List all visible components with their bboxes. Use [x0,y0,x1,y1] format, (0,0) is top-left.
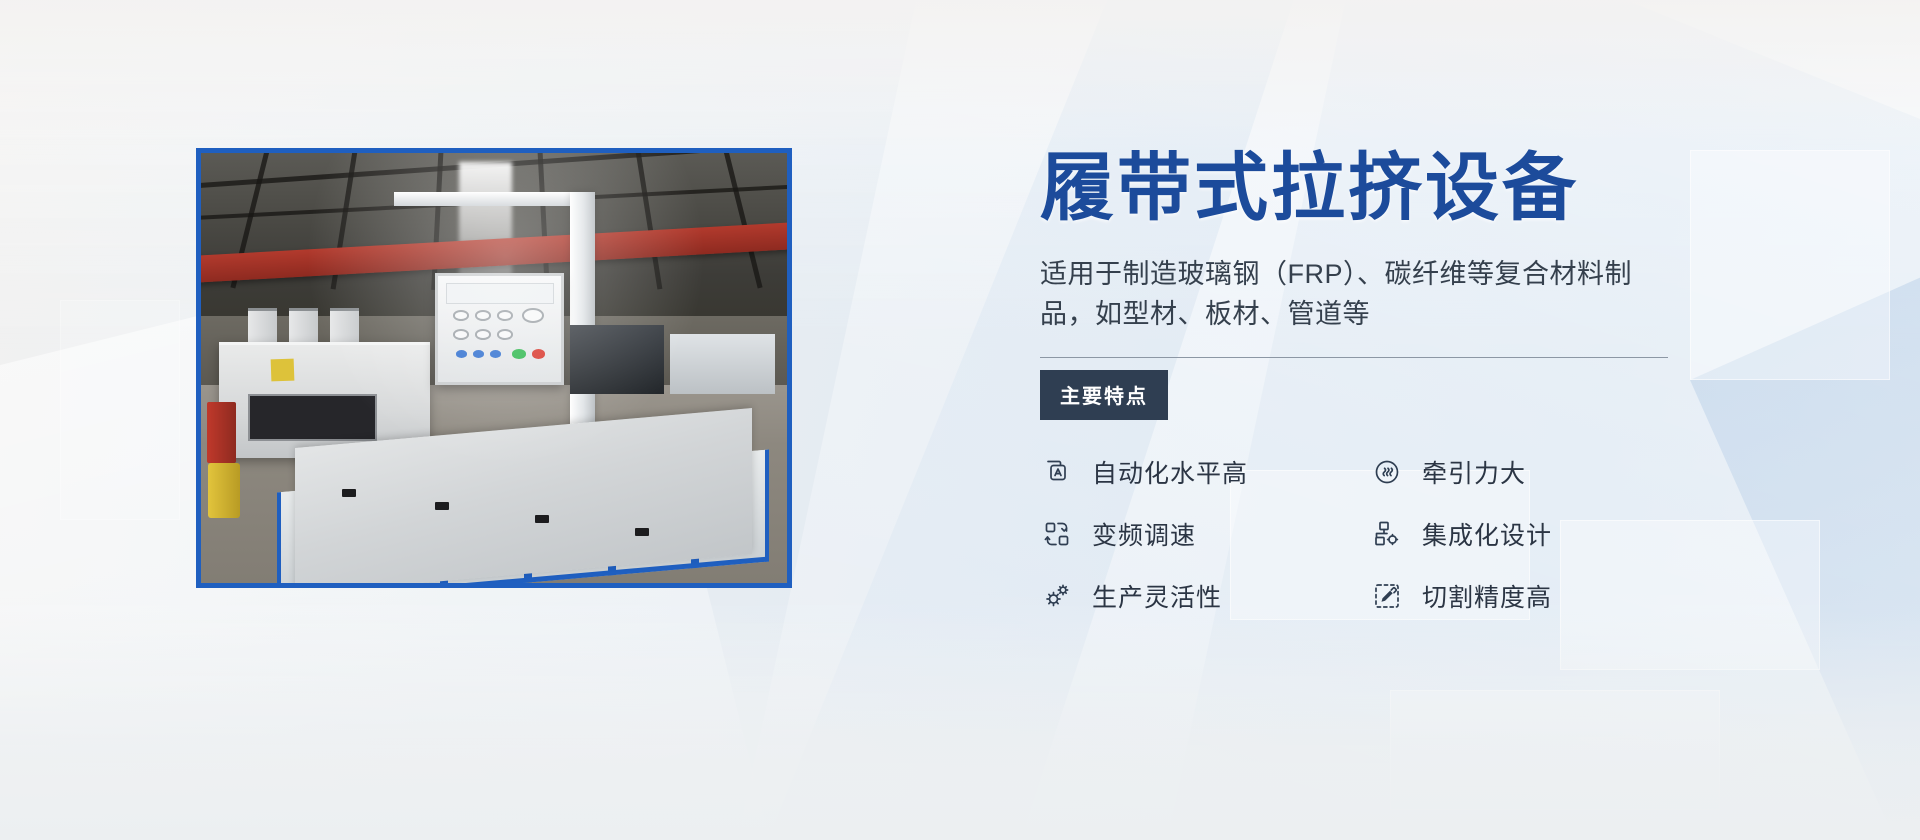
status-badge: 主要特点 [1040,370,1168,420]
feature-label: 牵引力大 [1422,454,1526,490]
feature-item-automation[interactable]: 自动化水平高 [1040,454,1370,490]
product-banner: 履带式拉挤设备 适用于制造玻璃钢（FRP）、碳纤维等复合材料制品，如型材、板材、… [0,0,1920,840]
page-title: 履带式拉挤设备 [1040,150,1700,225]
feature-label: 切割精度高 [1422,578,1552,614]
decor-top-veil [0,0,1920,150]
product-photo[interactable] [196,148,792,588]
integrated-design-icon [1370,517,1404,551]
frequency-speed-icon [1040,517,1074,551]
feature-item-integrated[interactable]: 集成化设计 [1370,516,1700,552]
banner-subtitle: 适用于制造玻璃钢（FRP）、碳纤维等复合材料制品，如型材、板材、管道等 [1040,255,1640,335]
feature-list: 自动化水平高 牵引力大 [1040,454,1700,614]
feature-item-frequency[interactable]: 变频调速 [1040,516,1370,552]
decor-ghost-block-5 [60,300,180,520]
feature-label: 生产灵活性 [1092,578,1222,614]
feature-label: 集成化设计 [1422,516,1552,552]
photo-light-glare [201,153,787,583]
feature-label: 变频调速 [1092,516,1196,552]
automation-square-a-icon [1040,455,1074,489]
feature-item-precision[interactable]: 切割精度高 [1370,578,1700,614]
traction-wave-circle-icon [1370,455,1404,489]
decor-ghost-block-4 [1690,150,1890,380]
product-photo-inner [201,153,787,583]
feature-label: 自动化水平高 [1092,454,1248,490]
gears-flexibility-icon [1040,579,1074,613]
section-divider [1040,357,1668,358]
feature-item-traction[interactable]: 牵引力大 [1370,454,1700,490]
banner-content: 履带式拉挤设备 适用于制造玻璃钢（FRP）、碳纤维等复合材料制品，如型材、板材、… [1040,150,1700,614]
feature-item-flexibility[interactable]: 生产灵活性 [1040,578,1370,614]
decor-ghost-block-3 [1390,690,1720,810]
pencil-precision-icon [1370,579,1404,613]
